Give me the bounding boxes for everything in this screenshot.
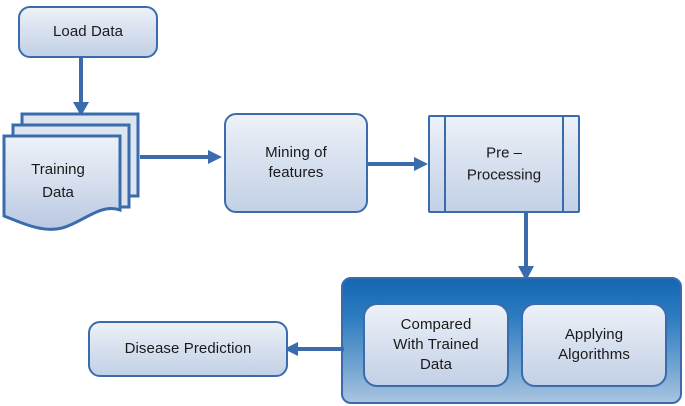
node-disease-prediction[interactable]: Disease Prediction — [88, 321, 288, 377]
node-applying-algorithms[interactable]: Applying Algorithms — [521, 303, 667, 387]
node-mining-of-features[interactable]: Mining of features — [224, 113, 368, 213]
connector-pre-processing-to-panel — [517, 213, 535, 283]
node-pre-processing-label: Pre – Processing — [448, 142, 560, 186]
node-mining-of-features-label: Mining of features — [259, 143, 333, 184]
processing-panel: Compared With Trained Data Applying Algo… — [341, 277, 682, 404]
node-compared-with-trained-data-label: Compared With Trained Data — [387, 315, 484, 376]
node-disease-prediction-label: Disease Prediction — [119, 339, 258, 359]
node-training-data[interactable]: Training Data — [2, 110, 142, 236]
node-training-data-label: Training Data — [8, 158, 108, 205]
node-pre-processing[interactable]: Pre – Processing — [428, 115, 580, 213]
flowchart-diagram: Load Data Training Data — [0, 0, 685, 406]
predefined-process-right-bar — [562, 117, 564, 211]
node-applying-algorithms-label: Applying Algorithms — [552, 325, 636, 366]
node-load-data-label: Load Data — [47, 22, 129, 42]
connector-panel-to-disease-prediction — [284, 340, 344, 358]
connector-load-to-training — [72, 56, 90, 118]
connector-training-to-mining — [140, 148, 224, 166]
predefined-process-left-bar — [444, 117, 446, 211]
node-compared-with-trained-data[interactable]: Compared With Trained Data — [363, 303, 509, 387]
connector-mining-to-pre-processing — [368, 155, 430, 173]
node-load-data[interactable]: Load Data — [18, 6, 158, 58]
